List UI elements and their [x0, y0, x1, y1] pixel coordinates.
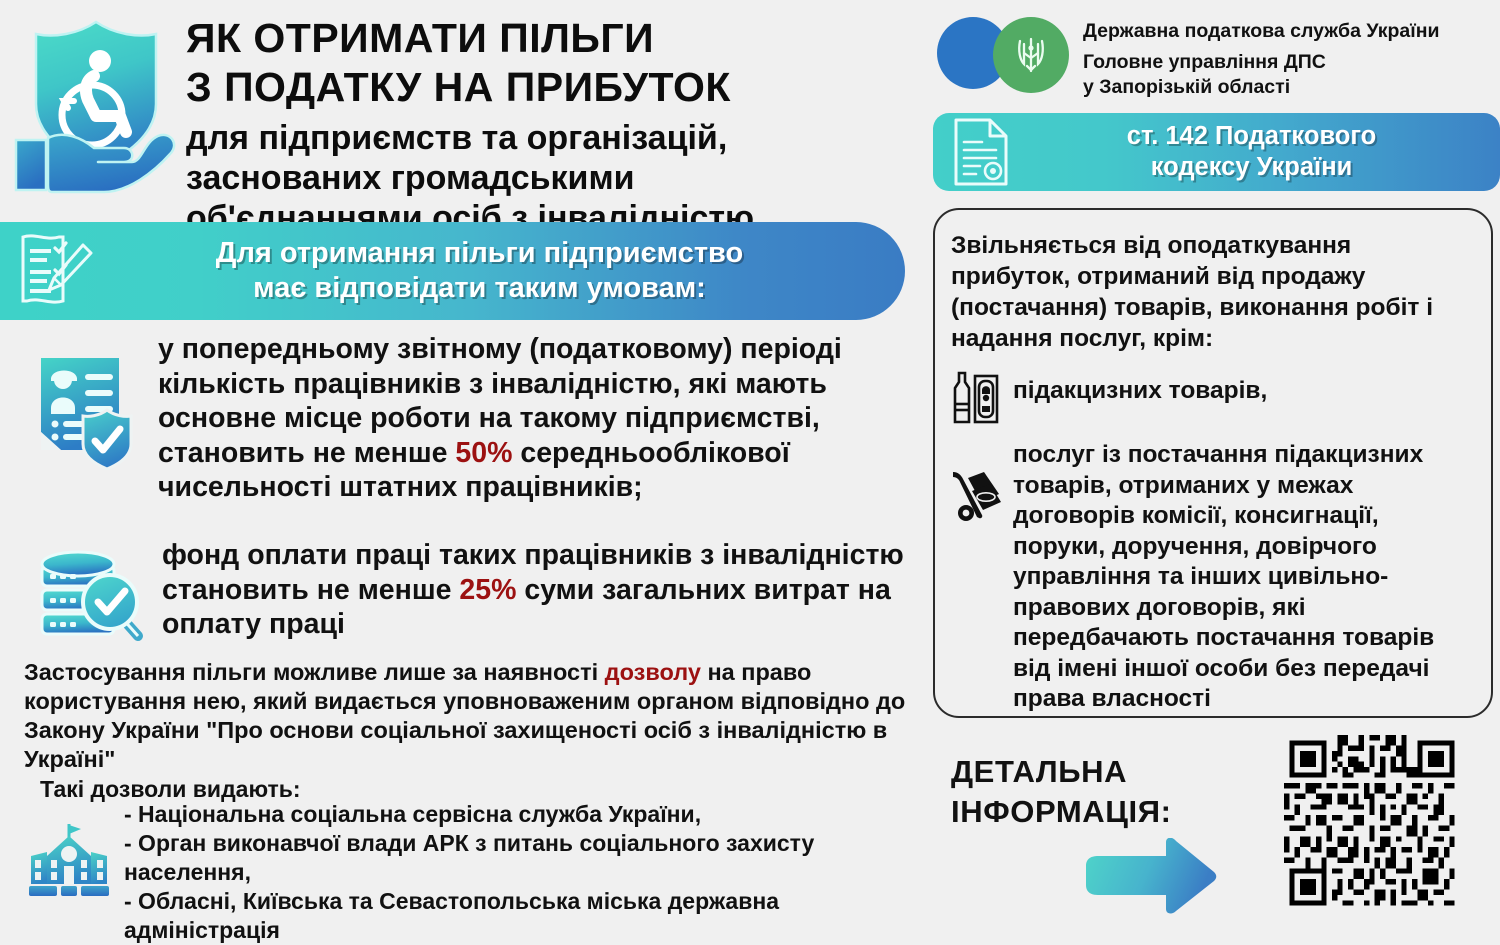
note-part-1: Застосування пільги можливе лише за наяв… [24, 659, 605, 685]
conditions-banner-line-1: Для отримання пільги підприємство [112, 236, 847, 271]
left-column: ЯК ОТРИМАТИ ПІЛЬГИ З ПОДАТКУ НА ПРИБУТОК… [0, 0, 925, 920]
exemption-lead-text: Звільняється від оподаткування прибуток,… [951, 230, 1473, 354]
disability-shield-hand-icon [8, 12, 183, 202]
more-info-line-2: ІНФОРМАЦІЯ: [951, 792, 1251, 832]
tax-code-text: ст. 142 Податкового кодексу України [1029, 121, 1500, 183]
title-line-4: заснованих громадськими [186, 158, 921, 198]
title-line-3: для підприємств та організацій, [186, 118, 921, 158]
hand-truck-cargo-icon [951, 440, 1013, 715]
more-info-label: ДЕТАЛЬНА ІНФОРМАЦІЯ: [951, 752, 1251, 832]
conditions-banner-text: Для отримання пільги підприємство має ві… [112, 236, 905, 306]
title-line-2: З ПОДАТКУ НА ПРИБУТОК [186, 63, 921, 112]
authorities-list: - Національна соціальна сервісна служба … [124, 800, 919, 945]
condition-2-text: фонд оплати праці таких працівників з ін… [162, 538, 922, 648]
qr-code-icon[interactable] [1284, 735, 1460, 911]
organization-header: Державна податкова служба України Головн… [933, 14, 1493, 100]
logo-group [933, 14, 1083, 92]
right-column: Державна податкова служба України Головн… [925, 0, 1500, 920]
title-line-1: ЯК ОТРИМАТИ ПІЛЬГИ [186, 14, 921, 63]
org-line-1: Державна податкова служба України [1083, 18, 1493, 45]
exemption-item-2: послуг із постачання підакцизних товарів… [951, 440, 1473, 715]
condition-2-highlight: 25% [459, 574, 516, 606]
exemption-item-1: підакцизних товарів, [951, 370, 1473, 426]
exemption-item-1-text: підакцизних товарів, [1013, 370, 1473, 426]
database-check-magnifier-icon [22, 538, 162, 648]
note-paragraph: Застосування пільги можливе лише за наяв… [24, 658, 914, 774]
right-arrow-icon [1080, 838, 1220, 914]
condition-1-text: у попередньому звітному (податковому) пе… [158, 332, 918, 505]
conditions-banner: Для отримання пільги підприємство має ві… [0, 222, 905, 320]
checklist-pencil-icon [0, 231, 112, 311]
tax-code-banner: ст. 142 Податкового кодексу України [933, 113, 1500, 191]
org-line-3: у Запорізькій області [1083, 75, 1493, 100]
note-subtitle: Такі дозволи видають: [40, 776, 301, 803]
exemption-item-2-text: послуг із постачання підакцизних товарів… [1013, 440, 1473, 715]
condition-1-highlight: 50% [455, 437, 512, 469]
org-line-2: Головне управління ДПС [1083, 50, 1493, 75]
document-seal-icon [933, 116, 1029, 188]
title-block: ЯК ОТРИМАТИ ПІЛЬГИ З ПОДАТКУ НА ПРИБУТОК… [0, 0, 925, 215]
tax-code-line-1: ст. 142 Податкового [1029, 121, 1474, 152]
list-item: - Національна соціальна сервісна служба … [124, 800, 919, 829]
conditions-banner-line-2: має відповідати таким умовам: [112, 271, 847, 306]
government-building-icon [14, 800, 124, 945]
more-info-line-1: ДЕТАЛЬНА [951, 752, 1251, 792]
list-item: - Обласні, Київська та Севастопольська м… [124, 887, 919, 945]
list-item: - Орган виконавчої влади АРК з питань со… [124, 829, 919, 887]
note-highlight: дозволу [605, 659, 701, 685]
worker-document-shield-icon [18, 332, 158, 505]
infographic-page: ЯК ОТРИМАТИ ПІЛЬГИ З ПОДАТКУ НА ПРИБУТОК… [0, 0, 1500, 920]
exemption-card: Звільняється від оподаткування прибуток,… [933, 208, 1493, 718]
tax-code-line-2: кодексу України [1029, 152, 1474, 183]
organization-names: Державна податкова служба України Головн… [1083, 14, 1493, 100]
ukraine-trident-logo [993, 17, 1069, 93]
authorities-block: - Національна соціальна сервісна служба … [14, 800, 919, 945]
condition-row-2: фонд оплати праці таких працівників з ін… [22, 538, 922, 648]
excise-bottle-package-icon [951, 370, 1013, 426]
condition-row-1: у попередньому звітному (податковому) пе… [18, 332, 918, 505]
